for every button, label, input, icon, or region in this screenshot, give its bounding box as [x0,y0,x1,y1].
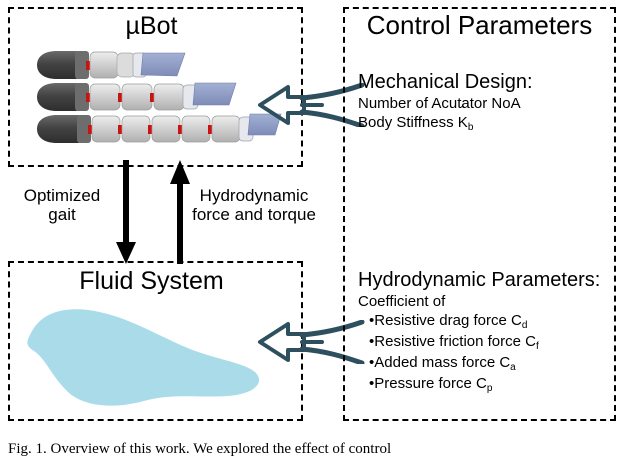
ubot-panel-title: µBot [0,14,303,39]
hydrodynamic-bullet-drag: •Resistive drag force Cd [358,311,616,332]
robot-1-actuator [33,48,193,82]
bullet-subscript: a [510,362,516,373]
stiffness-subscript: b [468,122,474,133]
bullet-subscript: d [522,320,528,331]
control-parameters-title: Control Parameters [343,12,616,38]
hydrodynamic-bullet-added-mass: •Added mass force Ca [358,353,616,374]
bullet-text: Pressure force C [374,375,487,392]
mechanical-design-heading: Mechanical Design: [358,70,616,94]
fluid-blob-shape [22,297,282,409]
robot-3-actuator-svg [33,80,243,114]
robot-3-actuator [33,80,243,114]
figure-overview: µBot [0,0,624,458]
robot-5-actuator-svg [33,112,283,146]
mechanical-design-block: Mechanical Design: Number of Acutator No… [358,70,616,134]
bullet-subscript: f [536,341,539,352]
stiffness-symbol-group: ˆ K [458,113,468,132]
bullet-text: Added mass force C [374,354,510,371]
hydrodynamic-coefficient-intro: Coefficient of [358,292,616,311]
optimized-gait-label: Optimized gait [14,186,110,224]
robot-1-actuator-svg [33,48,193,82]
hydrodynamic-bullet-pressure: •Pressure force Cp [358,374,616,395]
mechanical-design-line-stiffness: Body Stiffness ˆ K b [358,113,616,134]
optimized-gait-arrow [112,160,140,264]
hat-accent: ˆ [461,104,465,117]
stiffness-label: Body Stiffness [358,114,454,131]
bullet-subscript: p [487,383,493,394]
fluid-panel-title: Fluid System [0,269,303,294]
hydrodynamic-force-label: Hydrodynamic force and torque [190,186,318,224]
hydrodynamic-parameters-heading: Hydrodynamic Parameters: [358,268,616,292]
mechanical-design-line-actuators: Number of Acutator NoA [358,94,616,113]
figure-caption: Fig. 1. Overview of this work. We explor… [8,440,616,458]
bullet-text: Resistive drag force C [374,312,522,329]
bullet-text: Resistive friction force C [374,333,536,350]
hydrodynamic-parameters-block: Hydrodynamic Parameters: Coefficient of … [358,268,616,395]
robot-5-actuator [33,112,283,146]
hydrodynamic-bullet-friction: •Resistive friction force Cf [358,332,616,353]
